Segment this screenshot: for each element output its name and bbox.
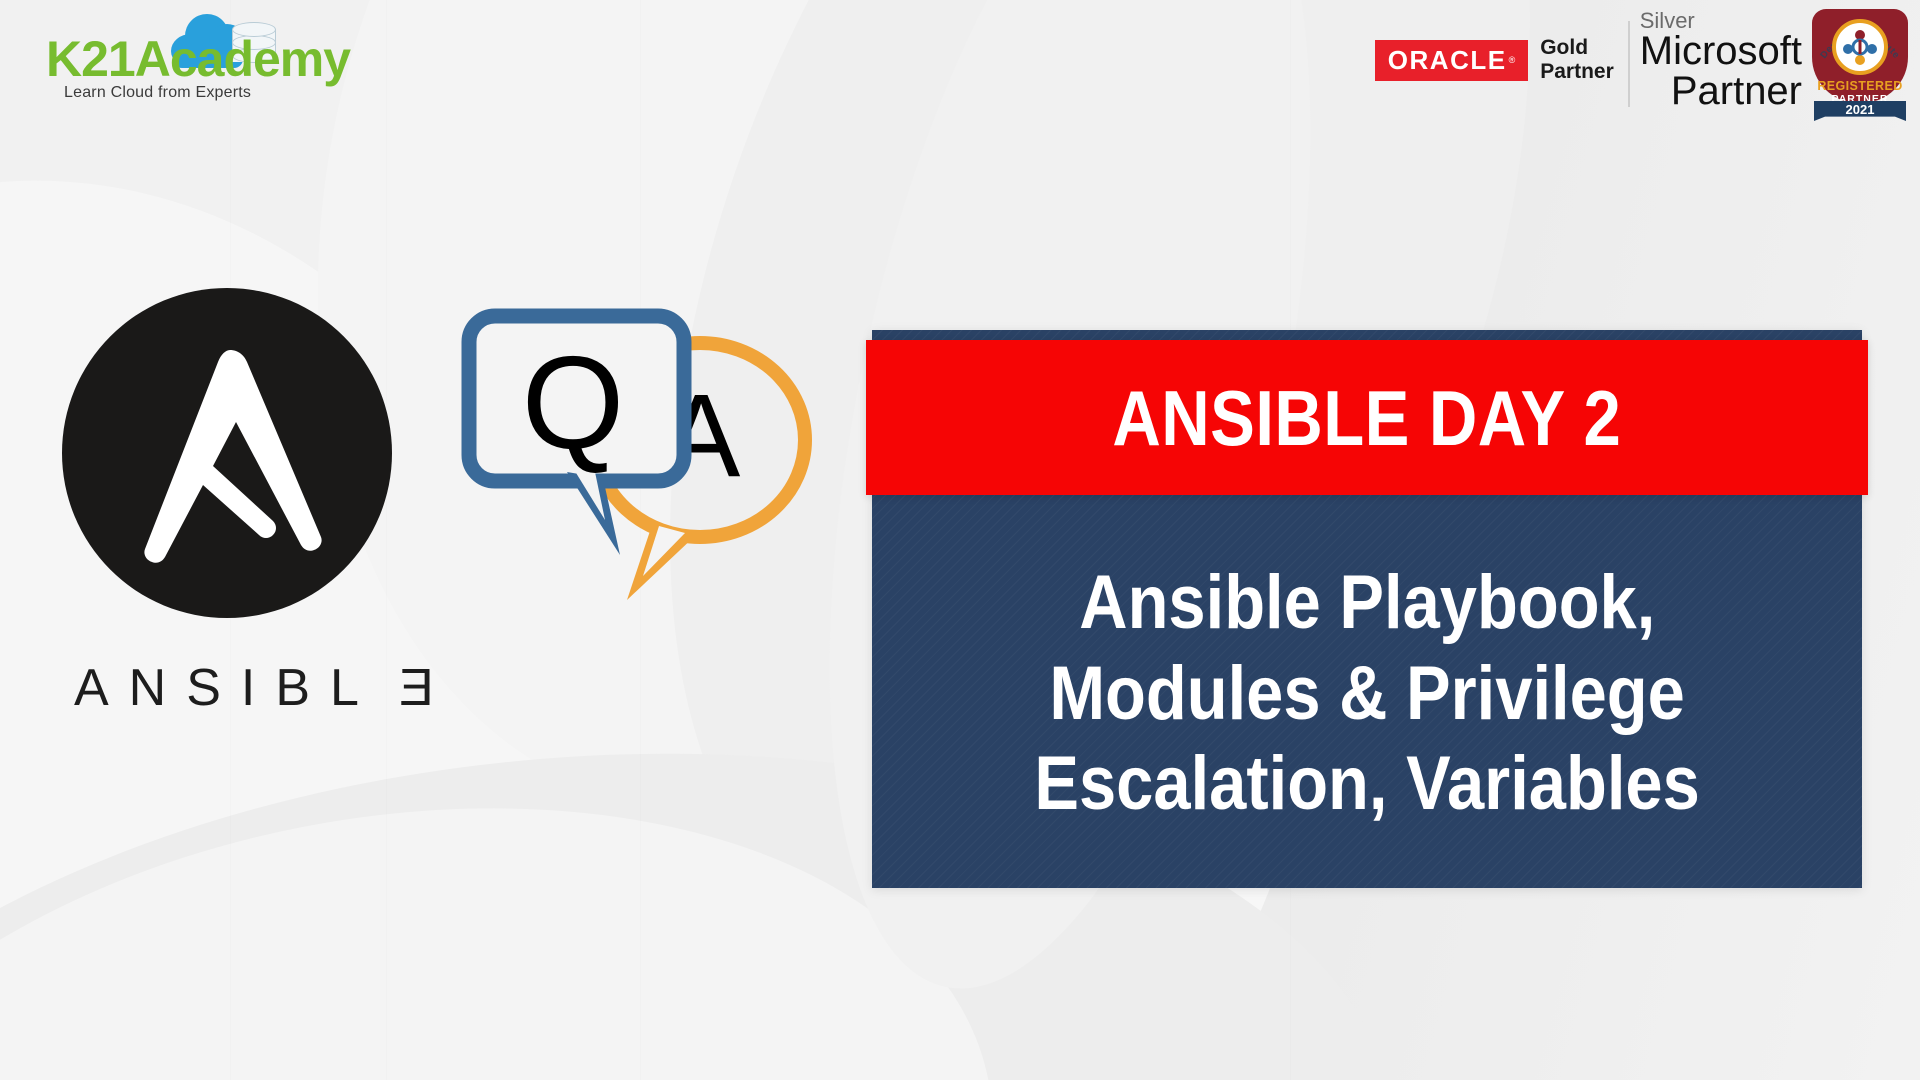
microsoft-partner-label: Partner (1671, 72, 1802, 111)
devops-year: 2021 (1808, 102, 1912, 117)
oracle-wordmark: ORACLE (1388, 47, 1507, 73)
partner-badges: ORACLE ® Gold Partner Silver Microsoft P… (1375, 0, 1920, 120)
qa-graphic: A Q (455, 300, 875, 640)
ansible-logo: ANSIBLE (52, 288, 472, 758)
registered-trademark-icon: ® (1509, 55, 1516, 65)
oracle-partner-level: Gold Partner (1540, 36, 1614, 83)
slide-canvas: K21Academy Learn Cloud from Experts ORAC… (0, 0, 1920, 1080)
devops-status: REGISTERED (1808, 79, 1912, 93)
microsoft-silver-partner-badge: Silver Microsoft Partner (1628, 9, 1802, 110)
microsoft-wordmark: Microsoft (1640, 32, 1802, 71)
ansible-wordmark-main: ANSIBL (74, 659, 379, 717)
brand-name: K21Academy (46, 30, 350, 88)
brand-tagline: Learn Cloud from Experts (64, 84, 251, 102)
ansible-wordmark: ANSIBLE (74, 658, 494, 718)
subtitle-line-1: Ansible Playbook, (1079, 559, 1655, 648)
brand-logo: K21Academy Learn Cloud from Experts (16, 4, 316, 108)
subtitle-block: Ansible Playbook, Modules & Privilege Es… (872, 500, 1862, 888)
divider (1628, 21, 1630, 107)
ansible-wordmark-final-e: E (379, 658, 434, 718)
question-letter: Q (522, 329, 625, 476)
ansible-a-mark-icon (62, 288, 392, 618)
title-banner: ANSIBLE DAY 2 (866, 340, 1868, 495)
oracle-gold-partner-badge: ORACLE ® Gold Partner (1375, 36, 1614, 83)
subtitle-line-2: Modules & Privilege (1049, 650, 1685, 739)
banner-title: ANSIBLE DAY 2 (1113, 379, 1622, 457)
oracle-logo: ORACLE ® (1375, 40, 1528, 81)
subtitle-line-3: Escalation, Variables (1034, 740, 1699, 829)
devops-knot-icon (1840, 27, 1880, 67)
devops-institute-badge: DevOps Institute REGISTERED PARTNER 2021 (1808, 5, 1912, 117)
